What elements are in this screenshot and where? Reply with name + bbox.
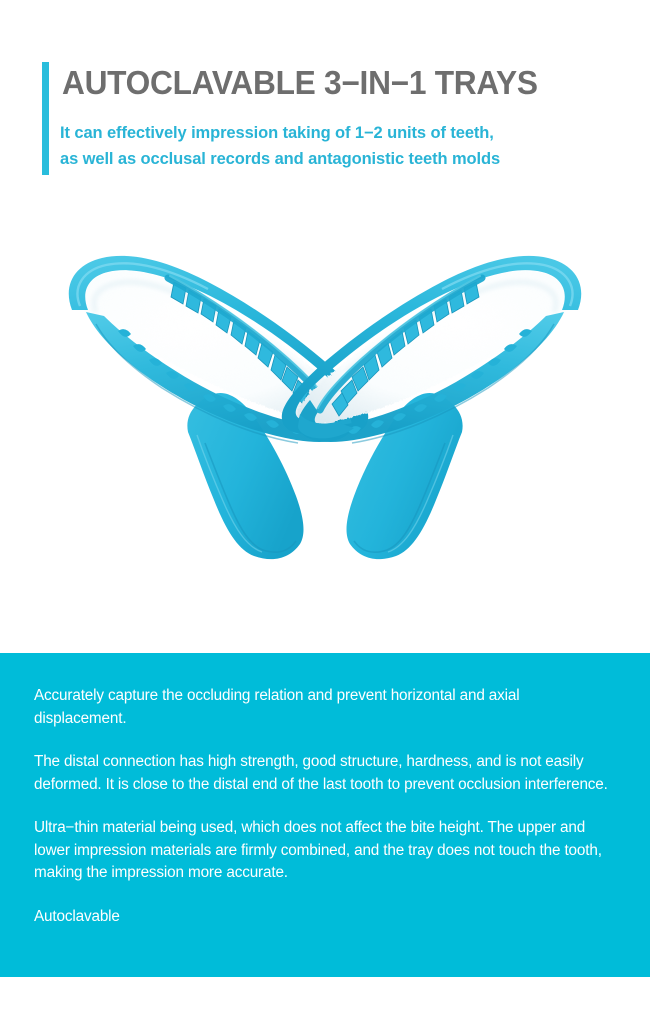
subtitle-line-1: It can effectively impression taking of … (60, 120, 630, 146)
accent-bar (42, 62, 49, 175)
feature-paragraph-2: The distal connection has high strength,… (34, 751, 616, 796)
product-image-area (0, 200, 650, 653)
page-subtitle: It can effectively impression taking of … (60, 120, 630, 172)
header-section: AUTOCLAVABLE 3−IN−1 TRAYS It can effecti… (0, 0, 650, 200)
subtitle-line-2: as well as occlusal records and antagoni… (60, 146, 630, 172)
feature-paragraph-1: Accurately capture the occluding relatio… (34, 685, 616, 730)
footer-spacer (0, 977, 650, 1024)
feature-paragraph-4: Autoclavable (34, 906, 616, 929)
features-list: Accurately capture the occluding relatio… (34, 685, 616, 928)
right-tray (282, 256, 581, 559)
product-marketing-page: AUTOCLAVABLE 3−IN−1 TRAYS It can effecti… (0, 0, 650, 1024)
dental-tray-pair-illustration (0, 200, 650, 653)
page-title: AUTOCLAVABLE 3−IN−1 TRAYS (62, 62, 600, 104)
features-panel: Accurately capture the occluding relatio… (0, 653, 650, 977)
feature-paragraph-3: Ultra−thin material being used, which do… (34, 817, 616, 885)
